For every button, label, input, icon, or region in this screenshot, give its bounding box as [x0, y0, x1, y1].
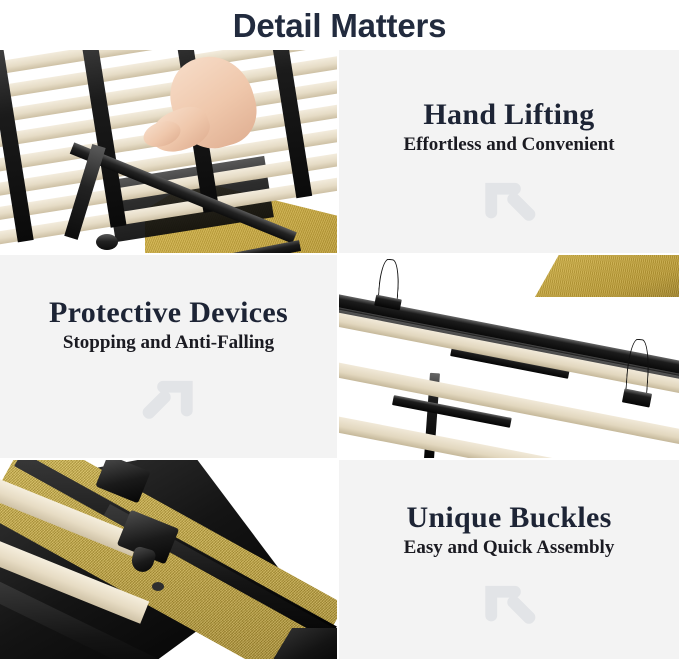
feature-subtitle: Easy and Quick Assembly	[404, 538, 615, 559]
wire-stopper-mount	[622, 388, 652, 407]
feature-heading: Protective Devices	[49, 297, 288, 329]
feature-subtitle: Stopping and Anti-Falling	[63, 333, 274, 354]
feature-image-unique-buckles	[0, 460, 339, 659]
feature-text-hand-lifting: Hand Lifting Effortless and Convenient	[339, 50, 679, 255]
wire-stopper	[625, 338, 651, 396]
photo-hand-lifting	[0, 50, 337, 253]
photo-protective-devices	[339, 255, 679, 458]
fabric-corner	[535, 255, 679, 297]
feature-heading: Hand Lifting	[423, 99, 594, 131]
screw-hole	[152, 582, 164, 591]
feature-subtitle: Effortless and Convenient	[403, 135, 614, 156]
feature-image-hand-lifting	[0, 50, 339, 255]
arrow-up-left-icon	[472, 171, 546, 245]
feature-text-unique-buckles: Unique Buckles Easy and Quick Assembly	[339, 460, 679, 659]
arrow-up-right-icon	[132, 369, 206, 443]
feature-image-protective-devices	[339, 255, 679, 460]
feature-text-protective-devices: Protective Devices Stopping and Anti-Fal…	[0, 255, 339, 460]
feature-heading: Unique Buckles	[406, 502, 611, 534]
feature-grid: Hand Lifting Effortless and Convenient P…	[0, 50, 679, 659]
slat-platform	[0, 50, 339, 255]
photo-unique-buckles	[0, 460, 337, 659]
page-title: Detail Matters	[233, 9, 447, 42]
lift-bar-pivot	[96, 234, 118, 250]
page-title-bar: Detail Matters	[0, 0, 679, 50]
arrow-up-left-icon	[472, 574, 546, 648]
